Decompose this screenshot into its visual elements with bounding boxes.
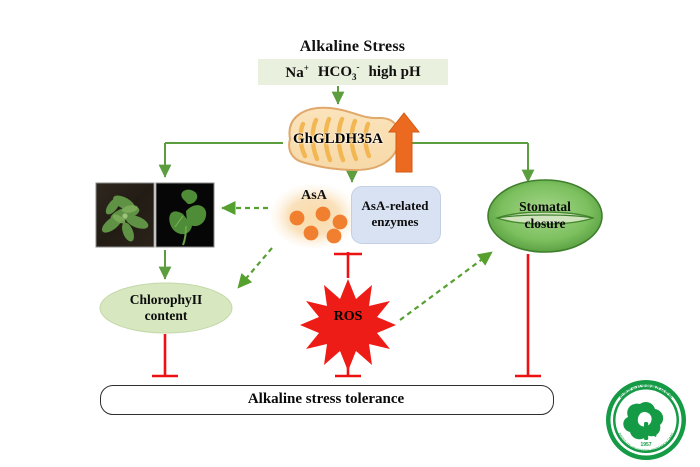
asa-label: AsA: [272, 186, 356, 206]
enzymes-label-line1: AsA-related: [362, 198, 429, 214]
gene-label: GhGLDH35A: [282, 108, 394, 170]
photo-arabidopsis: [96, 183, 154, 247]
svg-text:1957: 1957: [640, 442, 651, 448]
institute-logo: 1957 中国农业科学院棉花研究所 INSTITUTE OF COTTON RE…: [606, 380, 686, 460]
ion-bicarbonate: HCO3-: [318, 62, 360, 82]
chlorophyll-label: ChlorophyII content: [100, 283, 232, 333]
ion-list: Na+ HCO3- high pH: [258, 59, 448, 85]
ion-high-ph: high pH: [369, 64, 421, 81]
dashed-asa-to-chlorophyll: [238, 248, 272, 288]
ion-sodium: Na+: [285, 63, 308, 82]
stomata-label-line1: Stomatal: [519, 199, 571, 216]
ros-label: ROS: [305, 281, 391, 353]
asa-dot: [290, 211, 305, 226]
asa-dot: [316, 207, 331, 222]
chlorophyll-label-line2: content: [145, 308, 188, 324]
asa-dot: [327, 229, 342, 244]
asa-dot: [333, 215, 348, 230]
asa-dot: [304, 226, 319, 241]
stomata-label-line2: closure: [525, 216, 566, 233]
chlorophyll-label-line1: ChlorophyII: [130, 292, 203, 308]
enzymes-label: AsA-related enzymes: [351, 186, 439, 242]
stress-title: Alkaline Stress: [255, 36, 450, 58]
dashed-ros-to-stomata: [400, 252, 492, 320]
stomata-label: Stomatal closure: [487, 188, 603, 244]
enzymes-label-line2: enzymes: [372, 214, 419, 230]
tolerance-label: Alkaline stress tolerance: [100, 385, 552, 413]
photo-cotton-seedling: [156, 183, 214, 247]
